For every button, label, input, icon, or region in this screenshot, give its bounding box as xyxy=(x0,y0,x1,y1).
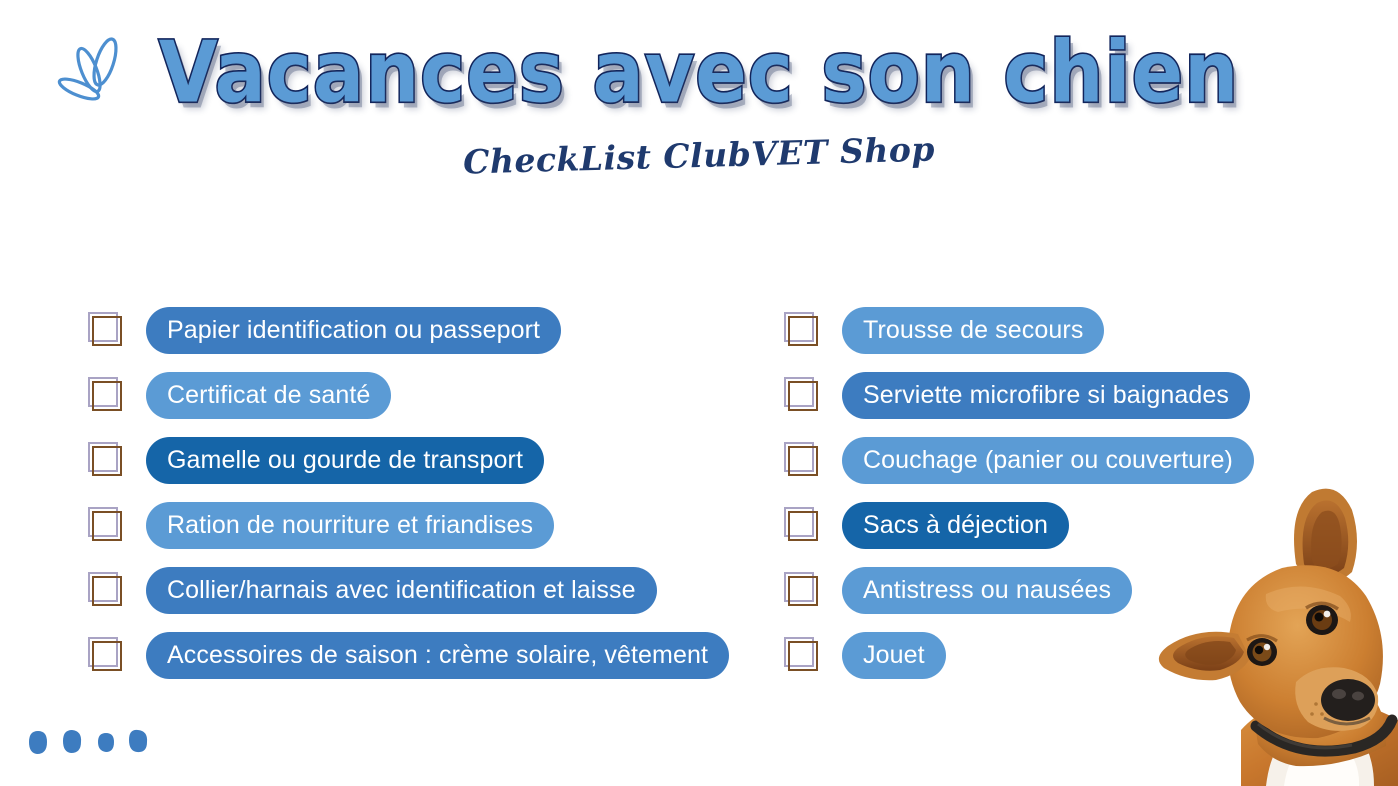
checklist-row[interactable]: Gamelle ou gourde de transport xyxy=(88,428,729,493)
checklist-item-label[interactable]: Papier identification ou passeport xyxy=(146,307,561,354)
checklist-row[interactable]: Collier/harnais avec identification et l… xyxy=(88,558,729,623)
checkbox-left-5[interactable] xyxy=(88,637,126,675)
checkbox-outline-front xyxy=(92,316,122,346)
checklist-item-label[interactable]: Couchage (panier ou couverture) xyxy=(842,437,1254,484)
checkbox-right-1[interactable] xyxy=(784,377,822,415)
checklist-item-label[interactable]: Trousse de secours xyxy=(842,307,1104,354)
checkbox-left-1[interactable] xyxy=(88,377,126,415)
checklist-row[interactable]: Couchage (panier ou couverture) xyxy=(784,428,1254,493)
checklist-row[interactable]: Jouet xyxy=(784,623,1254,688)
checkbox-outline-front xyxy=(788,446,818,476)
checkbox-right-0[interactable] xyxy=(784,312,822,350)
checklist-column-right: Trousse de secoursServiette microfibre s… xyxy=(784,298,1254,688)
checklist-row[interactable]: Ration de nourriture et friandises xyxy=(88,493,729,558)
checkbox-outline-front xyxy=(92,381,122,411)
checkbox-right-4[interactable] xyxy=(784,572,822,610)
checklist-row[interactable]: Accessoires de saison : crème solaire, v… xyxy=(88,623,729,688)
sparkle-leaves-icon xyxy=(57,36,141,114)
checklist-column-left: Papier identification ou passeportCertif… xyxy=(88,298,729,688)
checklist-item-label[interactable]: Certificat de santé xyxy=(146,372,391,419)
checkbox-outline-front xyxy=(788,576,818,606)
checkbox-left-2[interactable] xyxy=(88,442,126,480)
checkbox-right-2[interactable] xyxy=(784,442,822,480)
checklist-item-label[interactable]: Sacs à déjection xyxy=(842,502,1069,549)
checklist-row[interactable]: Certificat de santé xyxy=(88,363,729,428)
checkbox-left-4[interactable] xyxy=(88,572,126,610)
page-title: Vacances avec son chien xyxy=(0,30,1398,115)
checklist: Papier identification ou passeportCertif… xyxy=(0,298,1398,698)
checklist-row[interactable]: Antistress ou nausées xyxy=(784,558,1254,623)
checkbox-outline-front xyxy=(788,316,818,346)
checklist-item-label[interactable]: Serviette microfibre si baignades xyxy=(842,372,1250,419)
checklist-row[interactable]: Sacs à déjection xyxy=(784,493,1254,558)
checklist-item-label[interactable]: Collier/harnais avec identification et l… xyxy=(146,567,657,614)
four-dots-icon xyxy=(22,726,152,760)
checkbox-left-0[interactable] xyxy=(88,312,126,350)
checklist-item-label[interactable]: Ration de nourriture et friandises xyxy=(146,502,554,549)
checkbox-outline-front xyxy=(788,511,818,541)
checkbox-outline-front xyxy=(92,641,122,671)
checklist-item-label[interactable]: Accessoires de saison : crème solaire, v… xyxy=(146,632,729,679)
checklist-item-label[interactable]: Antistress ou nausées xyxy=(842,567,1132,614)
checklist-item-label[interactable]: Gamelle ou gourde de transport xyxy=(146,437,544,484)
checkbox-outline-front xyxy=(92,576,122,606)
checkbox-right-3[interactable] xyxy=(784,507,822,545)
checklist-poster: Vacances avec son chien CheckList ClubVE… xyxy=(0,0,1398,786)
checklist-row[interactable]: Papier identification ou passeport xyxy=(88,298,729,363)
checklist-row[interactable]: Trousse de secours xyxy=(784,298,1254,363)
checkbox-outline-front xyxy=(788,641,818,671)
checkbox-left-3[interactable] xyxy=(88,507,126,545)
checkbox-right-5[interactable] xyxy=(784,637,822,675)
checkbox-outline-front xyxy=(788,381,818,411)
checkbox-outline-front xyxy=(92,446,122,476)
checkbox-outline-front xyxy=(92,511,122,541)
checklist-row[interactable]: Serviette microfibre si baignades xyxy=(784,363,1254,428)
checklist-item-label[interactable]: Jouet xyxy=(842,632,946,679)
page-subtitle: CheckList ClubVET Shop xyxy=(0,116,1398,194)
